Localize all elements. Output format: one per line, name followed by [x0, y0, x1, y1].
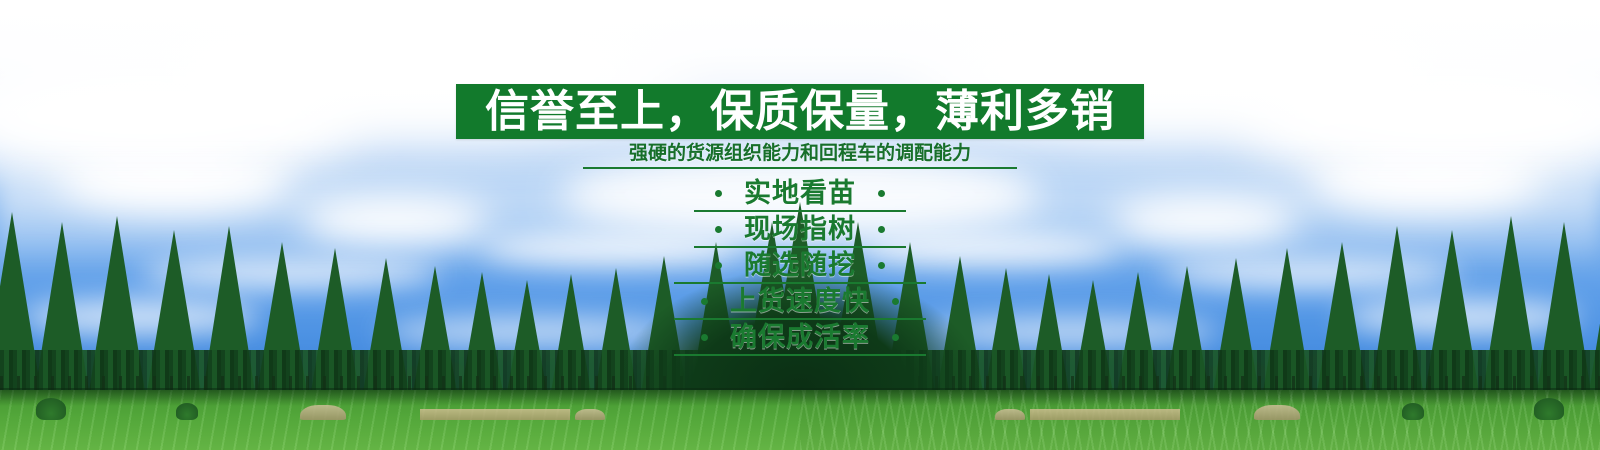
bullet-dot-icon — [715, 262, 722, 269]
bullet-dot-icon — [892, 334, 899, 341]
subtitle-underline — [583, 167, 1017, 169]
bullet-dot-icon — [701, 298, 708, 305]
bullet-dot-icon — [715, 226, 722, 233]
bullet-dot-icon — [878, 262, 885, 269]
feature-label: 上货速度快 — [730, 288, 870, 315]
feature-separator — [674, 318, 926, 320]
feature-label: 现场指树 — [744, 216, 856, 243]
bullet-dot-icon — [878, 190, 885, 197]
bullet-dot-icon — [892, 298, 899, 305]
bullet-dot-icon — [878, 226, 885, 233]
banner-stage: 信誉至上，保质保量，薄利多销 强硬的货源组织能力和回程车的调配能力 实地看苗 现… — [0, 0, 1600, 450]
feature-item: 实地看苗 — [715, 178, 885, 209]
feature-separator — [674, 354, 926, 356]
feature-item: 确保成活率 — [701, 322, 899, 353]
feature-item: 现场指树 — [715, 214, 885, 245]
feature-separator — [674, 282, 926, 284]
feature-list: 实地看苗 现场指树 随选随挖 上货速度快 — [0, 178, 1600, 358]
feature-item: 上货速度快 — [701, 286, 899, 317]
feature-label: 随选随挖 — [744, 252, 856, 279]
headline-text: 信誉至上，保质保量，薄利多销 — [485, 90, 1115, 134]
subtitle-text: 强硬的货源组织能力和回程车的调配能力 — [629, 143, 971, 164]
bullet-dot-icon — [715, 190, 722, 197]
bullet-dot-icon — [701, 334, 708, 341]
feature-label: 实地看苗 — [744, 180, 856, 207]
banner-content: 信誉至上，保质保量，薄利多销 强硬的货源组织能力和回程车的调配能力 实地看苗 现… — [0, 0, 1600, 450]
feature-label: 确保成活率 — [730, 324, 870, 351]
subtitle-block: 强硬的货源组织能力和回程车的调配能力 — [0, 143, 1600, 169]
feature-separator — [694, 210, 906, 212]
feature-item: 随选随挖 — [715, 250, 885, 281]
headline-banner-bar: 信誉至上，保质保量，薄利多销 — [456, 84, 1144, 139]
feature-separator — [694, 246, 906, 248]
